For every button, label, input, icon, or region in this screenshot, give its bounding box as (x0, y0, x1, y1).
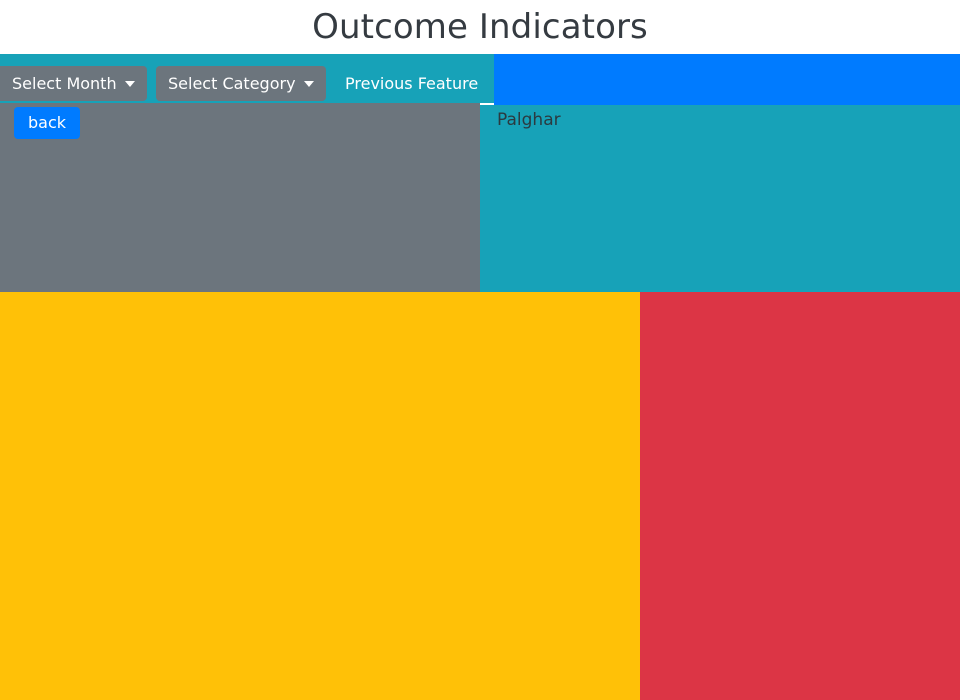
app-root: Outcome Indicators Select Month Select C… (0, 0, 960, 700)
bottom-right-red-block (640, 292, 960, 700)
caret-down-icon (304, 81, 314, 87)
page-title: Outcome Indicators (312, 10, 648, 44)
back-button[interactable]: back (14, 107, 80, 139)
left-gray-panel: back (0, 103, 480, 292)
previous-feature-link[interactable]: Previous Feature (345, 66, 478, 101)
select-category-dropdown[interactable]: Select Category (156, 66, 326, 101)
bottom-left-yellow-block (0, 292, 640, 700)
select-category-label: Select Category (168, 74, 296, 93)
select-month-dropdown[interactable]: Select Month (0, 66, 147, 101)
region-label: Palghar (497, 107, 561, 133)
caret-down-icon (125, 81, 135, 87)
navbar: Select Month Select Category Previous Fe… (0, 54, 494, 103)
page-header: Outcome Indicators (0, 0, 960, 54)
blue-banner-block (494, 54, 960, 105)
select-month-label: Select Month (12, 74, 117, 93)
right-teal-panel: Palghar (480, 105, 960, 292)
